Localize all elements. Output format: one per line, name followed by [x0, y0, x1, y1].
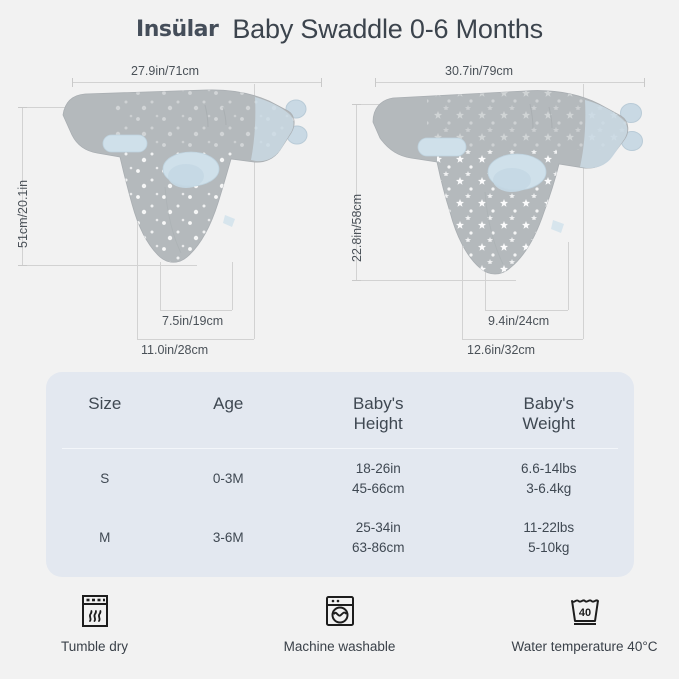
width-dimension-tick-left: [72, 78, 73, 87]
height-dimension-label: 51cm/20.1in: [16, 180, 30, 248]
velcro-tab-left: [103, 135, 147, 152]
width-dimension-line: [375, 82, 645, 83]
column-header-weight: Baby's Weight: [463, 372, 634, 445]
inner-width-dimension-line: [160, 310, 232, 311]
outer-width-dimension-line: [462, 339, 583, 340]
tumble-dry-icon: [80, 592, 110, 630]
inner-width-dimension-line: [485, 310, 568, 311]
cell-weight-kg: 5-10kg: [528, 540, 569, 555]
column-header-size-line1: Size: [88, 394, 121, 413]
outer-width-dimension-label: 12.6in/32cm: [467, 343, 535, 357]
center-patch-inner: [493, 168, 531, 192]
table-row: S 0-3M 18-26in 45-66cm 6.6-14lbs 3-6.4kg: [46, 445, 634, 504]
center-patch-inner: [168, 164, 204, 188]
column-header-weight-line1: Baby's: [523, 394, 574, 413]
hood-panel: [580, 100, 627, 168]
care-item-water-temperature: 40 Water temperature 40°C: [497, 592, 672, 654]
size-chart-panel: Size Age Baby's Height Baby's Weight S 0…: [46, 372, 634, 577]
machine-washable-icon: [324, 592, 356, 630]
cell-age: 0-3M: [164, 445, 293, 504]
height-dimension-label: 22.8in/58cm: [350, 194, 364, 262]
column-header-size: Size: [46, 372, 164, 445]
cell-weight-lbs: 11-22lbs: [523, 520, 574, 535]
care-instructions: Tumble dry Machine washable 40 Water tem…: [0, 592, 679, 654]
outer-width-dimension-line: [137, 339, 254, 340]
cell-height-cm: 63-86cm: [352, 540, 405, 555]
care-tag: [551, 220, 564, 233]
cell-height: 25-34in 63-86cm: [293, 504, 464, 563]
water-temperature-icon: 40: [567, 592, 603, 630]
product-diagrams: 27.9in/71cm 51cm/20.1in 7.5in/19cm 11.0i…: [0, 62, 679, 362]
product-diagram-medium: 30.7in/79cm 22.8in/58cm 9.4in/24cm 12.6i…: [340, 62, 679, 362]
page-title: Baby Swaddle 0-6 Months: [232, 14, 543, 45]
column-header-height-line1: Baby's: [353, 394, 404, 413]
care-tag: [223, 215, 235, 227]
cell-height-in: 25-34in: [356, 520, 401, 535]
cell-size: M: [46, 504, 164, 563]
velcro-tab-left: [418, 138, 466, 156]
table-header-divider: [62, 448, 618, 449]
cell-weight-lbs: 6.6-14lbs: [521, 461, 577, 476]
inner-width-dimension-label: 7.5in/19cm: [162, 314, 223, 328]
cell-weight-kg: 3-6.4kg: [526, 481, 571, 496]
height-dimension-tick-bottom: [18, 265, 27, 266]
cell-height-in: 18-26in: [356, 461, 401, 476]
column-header-height-line2: Height: [354, 414, 403, 433]
width-dimension-line: [72, 82, 322, 83]
care-label-machine-washable: Machine washable: [284, 639, 396, 654]
width-dimension-label: 27.9in/71cm: [131, 64, 199, 78]
column-header-weight-line2: Weight: [522, 414, 575, 433]
cell-height-cm: 45-66cm: [352, 481, 405, 496]
cell-height: 18-26in 45-66cm: [293, 445, 464, 504]
height-dimension-tick-top: [18, 107, 27, 108]
cell-age: 3-6M: [164, 504, 293, 563]
care-item-tumble-dry: Tumble dry: [7, 592, 182, 654]
width-dimension-tick-right: [321, 78, 322, 87]
water-temperature-value: 40: [578, 607, 590, 619]
care-item-machine-washable: Machine washable: [252, 592, 427, 654]
swaddle-illustration-medium: [367, 88, 647, 303]
page-header: Insülar Baby Swaddle 0-6 Months: [0, 14, 679, 45]
column-header-height: Baby's Height: [293, 372, 464, 445]
height-dimension-tick-bottom: [352, 280, 361, 281]
product-diagram-small: 27.9in/71cm 51cm/20.1in 7.5in/19cm 11.0i…: [0, 62, 339, 362]
swaddle-illustration-small: [55, 87, 310, 297]
table-row: M 3-6M 25-34in 63-86cm 11-22lbs 5-10kg: [46, 504, 634, 563]
cell-weight: 6.6-14lbs 3-6.4kg: [463, 445, 634, 504]
brand-logo: Insülar: [136, 17, 218, 42]
care-label-tumble-dry: Tumble dry: [61, 639, 128, 654]
care-label-water-temperature: Water temperature 40°C: [512, 639, 658, 654]
width-dimension-label: 30.7in/79cm: [445, 64, 513, 78]
cell-weight: 11-22lbs 5-10kg: [463, 504, 634, 563]
size-chart-table: Size Age Baby's Height Baby's Weight S 0…: [46, 372, 634, 563]
outer-width-dimension-label: 11.0in/28cm: [141, 343, 208, 357]
column-header-age-line1: Age: [213, 394, 243, 413]
cell-size: S: [46, 445, 164, 504]
width-dimension-tick-right: [644, 78, 645, 87]
table-header-row: Size Age Baby's Height Baby's Weight: [46, 372, 634, 445]
width-dimension-tick-left: [375, 78, 376, 87]
column-header-age: Age: [164, 372, 293, 445]
inner-width-dimension-label: 9.4in/24cm: [488, 314, 549, 328]
height-dimension-tick-top: [352, 104, 361, 105]
